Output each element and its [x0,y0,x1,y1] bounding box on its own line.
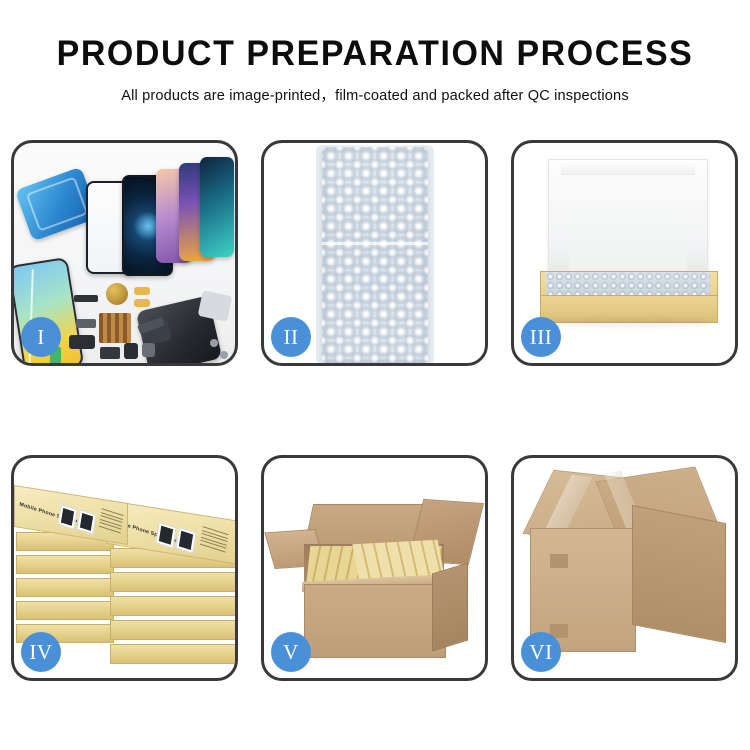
product-preparation-infographic: PRODUCT PREPARATION PROCESS All products… [0,0,750,750]
retail-box-left-3 [16,578,114,597]
process-step-panel-5[interactable]: V [261,455,488,681]
step-badge-5: V [271,632,311,672]
sealed-carton-side-panel-graphic [632,505,726,643]
spare-part-connector-icon [74,295,98,302]
carton-side-panel-graphic [432,562,468,651]
header: PRODUCT PREPARATION PROCESS All products… [0,0,750,105]
retail-box-left-4 [16,601,114,620]
spare-part-flex-cable-icon [134,287,150,295]
carton-front-panel-graphic [304,584,446,658]
retail-box-left-2 [16,555,114,574]
retail-box-thumbnail-left-2 [76,509,96,535]
page-title: PRODUCT PREPARATION PROCESS [11,0,739,74]
spare-part-screw-icon [210,339,218,347]
spare-part-module-icon [69,335,95,349]
spare-part-chip-grid-icon [99,313,131,343]
spare-part-coil-icon [106,283,128,305]
step-badge-4: IV [21,632,61,672]
process-step-panel-2[interactable]: II [261,140,488,366]
phone-screen-teal-graphic [200,157,234,257]
process-step-panel-6[interactable]: VI [511,455,738,681]
process-step-grid: I II III [11,140,739,681]
step-badge-1: I [21,317,61,357]
spare-part-flex-cable-2-icon [134,299,150,307]
retail-box-thumbnail-right-1 [155,522,176,549]
spare-part-speaker-icon [100,347,120,359]
spare-part-button-icon [142,343,155,357]
page-subtitle: All products are image-printed，film-coat… [0,74,750,105]
step-badge-6: VI [521,632,561,672]
carton-tab-upper-graphic [550,554,568,568]
tray-shadow-graphic [544,319,712,326]
spare-part-screw-2-icon [220,351,228,359]
retail-box-right-5 [110,644,235,664]
process-step-panel-4[interactable]: Mobile Phone Spare Parts Mobile Phone Sp… [11,455,238,681]
white-box-lid-graphic [548,159,708,277]
spare-part-strip-icon [76,319,96,328]
spare-part-camera-icon [124,343,138,359]
bubble-wrap-graphic [322,147,428,363]
step-badge-3: III [521,317,561,357]
retail-box-right-2 [110,572,235,592]
process-step-panel-1[interactable]: I [11,140,238,366]
retail-box-thumbnail-left-1 [57,504,77,530]
retail-box-right-3 [110,596,235,616]
retail-box-right-4 [110,620,235,640]
retail-box-thumbnail-right-2 [175,527,196,554]
retail-box-spec-lines-right [199,526,228,555]
step-badge-2: II [271,317,311,357]
process-step-panel-3[interactable]: III [511,140,738,366]
retail-box-spec-lines-left [98,508,123,536]
